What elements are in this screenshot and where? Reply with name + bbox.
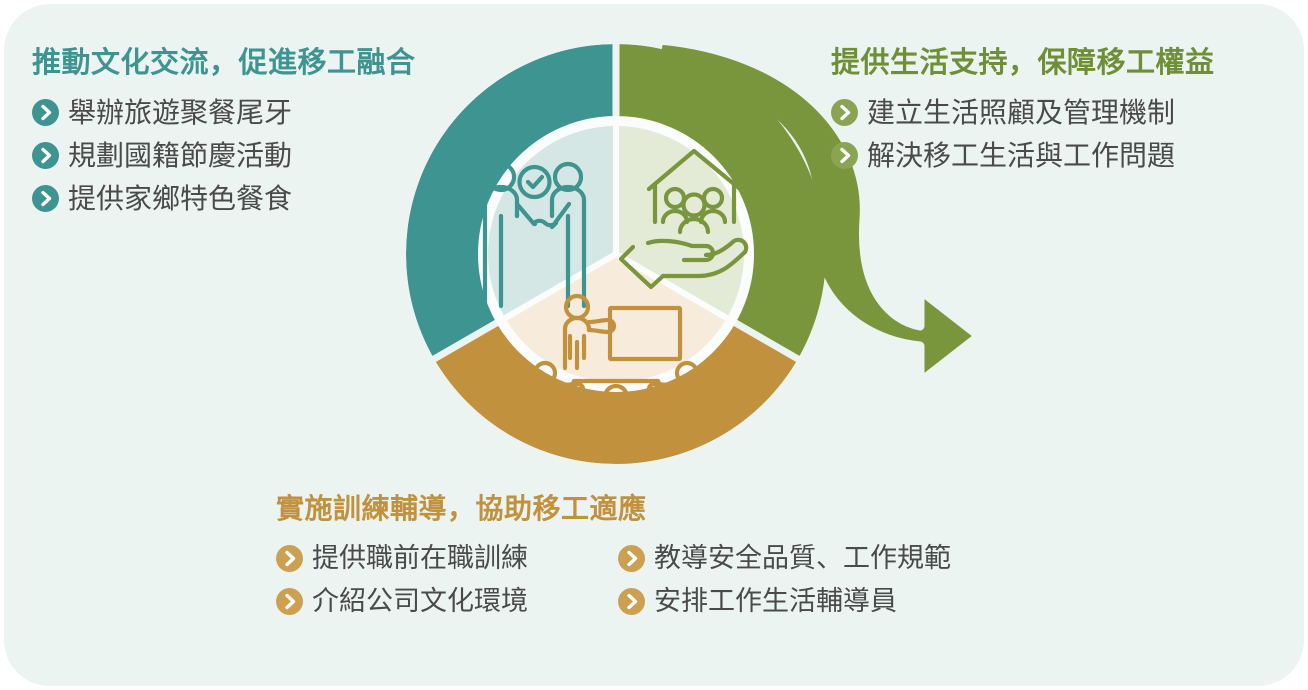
wedge-teal (488, 126, 616, 318)
list-item[interactable]: 教導安全品質、工作規範 (618, 543, 951, 575)
inner-outer-separator (483, 121, 749, 387)
list-item[interactable]: 提供職前在職訓練 (276, 543, 618, 575)
list-item-label: 解決移工生活與工作問題 (867, 139, 1175, 172)
chevron-right-icon (276, 588, 303, 615)
list-item[interactable]: 舉辦旅遊聚餐尾牙 (32, 96, 416, 129)
wedge-gold (505, 254, 727, 382)
list-item[interactable]: 提供家鄉特色餐食 (32, 182, 416, 215)
section-green-bullet-list: 建立生活照顧及管理機制 解決移工生活與工作問題 (831, 96, 1215, 172)
classroom-training-icon (534, 296, 698, 422)
list-item-label: 建立生活照顧及管理機制 (867, 96, 1175, 129)
ring-segment-green (446, 84, 786, 424)
list-item-label: 介紹公司文化環境 (312, 586, 528, 618)
list-item[interactable]: 介紹公司文化環境 (276, 586, 618, 618)
list-item[interactable]: 安排工作生活輔導員 (618, 586, 951, 618)
chevron-right-icon (618, 545, 645, 572)
hand-holding-family-home-icon (621, 151, 746, 287)
section-teal-bullet-list: 舉辦旅遊聚餐尾牙 規劃國籍節慶活動 提供家鄉特色餐食 (32, 96, 416, 215)
wedge-green (616, 126, 744, 318)
section-teal-heading: 推動文化交流，促進移工融合 (32, 48, 416, 80)
list-item-label: 提供職前在職訓練 (312, 543, 528, 575)
chevron-right-icon (831, 142, 858, 169)
section-teal: 推動文化交流，促進移工融合 舉辦旅遊聚餐尾牙 規劃國籍節慶活動 (32, 48, 416, 215)
list-item-label: 舉辦旅遊聚餐尾牙 (68, 96, 292, 129)
donut-outer-ring (446, 84, 786, 424)
rounded-background-panel: 推動文化交流，促進移工融合 舉辦旅遊聚餐尾牙 規劃國籍節慶活動 (4, 4, 1304, 686)
chevron-right-icon (276, 545, 303, 572)
infographic-canvas: 推動文化交流，促進移工融合 舉辦旅遊聚餐尾牙 規劃國籍節慶活動 (0, 0, 1308, 690)
list-item[interactable]: 規劃國籍節慶活動 (32, 139, 416, 172)
chevron-right-icon (618, 588, 645, 615)
chevron-right-icon (32, 185, 59, 212)
section-gold-heading: 實施訓練輔導，協助移工適應 (276, 494, 951, 525)
list-item-label: 提供家鄉特色餐食 (68, 182, 292, 215)
section-gold-bullet-list: 提供職前在職訓練 教導安全品質、工作規範 介紹公司文化環境 (276, 543, 951, 618)
section-green: 提供生活支持，保障移工權益 建立生活照顧及管理機制 解決移工生活與工作問題 (831, 48, 1215, 172)
list-item[interactable]: 解決移工生活與工作問題 (831, 139, 1215, 172)
chevron-right-icon (32, 142, 59, 169)
chevron-right-icon (831, 99, 858, 126)
inner-wedge-dividers (505, 126, 727, 318)
section-green-heading: 提供生活支持，保障移工權益 (831, 48, 1215, 80)
list-item-label: 安排工作生活輔導員 (654, 586, 897, 618)
list-item-label: 規劃國籍節慶活動 (68, 139, 292, 172)
list-item[interactable]: 建立生活照顧及管理機制 (831, 96, 1215, 129)
ring-segment-gold (446, 84, 786, 424)
list-item-label: 教導安全品質、工作規範 (654, 543, 951, 575)
section-gold: 實施訓練輔導，協助移工適應 提供職前在職訓練 教導安全品質、工作規範 (276, 494, 951, 618)
handshake-agreement-icon (485, 164, 584, 306)
ring-segment-teal (446, 84, 786, 424)
donut-inner-wedges (488, 126, 744, 382)
ring-dividers (434, 40, 798, 359)
chevron-right-icon (32, 99, 59, 126)
